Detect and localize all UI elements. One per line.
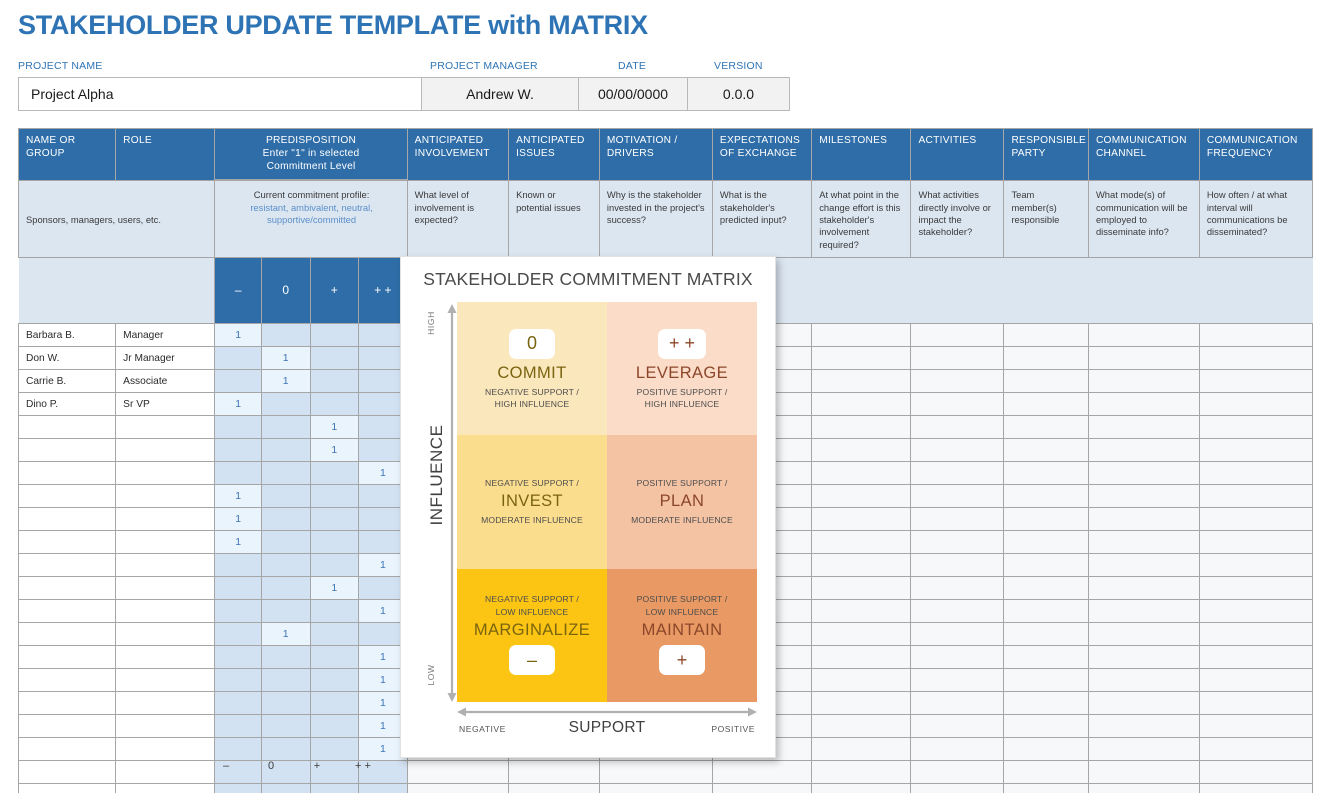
- cell-communication-frequency[interactable]: [1199, 669, 1312, 692]
- cell-communication-channel[interactable]: [1088, 600, 1199, 623]
- cell-anticipated-involvement[interactable]: [407, 784, 508, 793]
- cell-communication-frequency[interactable]: [1199, 715, 1312, 738]
- cell-communication-frequency[interactable]: [1199, 738, 1312, 761]
- cell-level-minus[interactable]: [215, 738, 261, 761]
- cell-level-zero[interactable]: [261, 439, 310, 462]
- desc-line-1: NEGATIVE SUPPORT /: [485, 477, 579, 489]
- level-row-pad-1: [19, 258, 116, 324]
- cell-level-zero[interactable]: [261, 784, 310, 793]
- cell-level-minus[interactable]: 1: [215, 485, 261, 508]
- cell-communication-frequency[interactable]: [1199, 508, 1312, 531]
- cell-activities[interactable]: [911, 577, 1004, 600]
- matrix-quadrant-desc-marginalize: NEGATIVE SUPPORT /LOW INFLUENCE: [485, 593, 579, 618]
- matrix-quadrant-title-commit: COMMIT: [497, 364, 566, 383]
- cell-role[interactable]: Manager: [116, 324, 215, 347]
- cell-responsible-party[interactable]: [1004, 462, 1089, 485]
- cell-role[interactable]: [116, 600, 215, 623]
- th-predisposition-l2: Enter "1" in selected: [219, 148, 402, 161]
- matrix-quadrant-commit[interactable]: 0COMMITNEGATIVE SUPPORT /HIGH INFLUENCE: [457, 302, 607, 435]
- desc-line-1: POSITIVE SUPPORT /: [637, 386, 728, 398]
- cell-responsible-party[interactable]: [1004, 715, 1089, 738]
- sub-predisposition-l2: resistant, ambivalent, neutral,: [222, 202, 400, 214]
- matrix-chip-leverage: + +: [658, 329, 706, 359]
- cell-activities[interactable]: [911, 715, 1004, 738]
- cell-activities[interactable]: [911, 462, 1004, 485]
- cell-level-plus[interactable]: [310, 600, 359, 623]
- sub-predisposition: Current commitment profile: resistant, a…: [215, 181, 407, 258]
- cell-milestones[interactable]: [812, 554, 911, 577]
- cell-level-plus[interactable]: 1: [310, 577, 359, 600]
- sub-communication-frequency: How often / at what interval will commun…: [1199, 181, 1312, 258]
- cell-communication-channel[interactable]: [1088, 508, 1199, 531]
- cell-activities[interactable]: [911, 646, 1004, 669]
- cell-communication-channel[interactable]: [1088, 692, 1199, 715]
- cell-responsible-party[interactable]: [1004, 738, 1089, 761]
- th-predisposition: PREDISPOSITION Enter "1" in selected Com…: [215, 129, 407, 180]
- influence-high-label: HIGH: [426, 303, 436, 343]
- cell-communication-frequency[interactable]: [1199, 600, 1312, 623]
- cell-name-or-group[interactable]: Don W.: [19, 347, 116, 370]
- cell-level-zero[interactable]: [261, 715, 310, 738]
- cell-level-minus[interactable]: 1: [215, 531, 261, 554]
- cell-responsible-party[interactable]: [1004, 439, 1089, 462]
- th-communication-channel: COMMUNICATION CHANNEL: [1088, 129, 1199, 181]
- cell-name-or-group[interactable]: Barbara B.: [19, 324, 116, 347]
- matrix-title: STAKEHOLDER COMMITMENT MATRIX: [401, 269, 775, 290]
- cell-responsible-party[interactable]: [1004, 485, 1089, 508]
- cell-milestones[interactable]: [812, 508, 911, 531]
- cell-level-zero[interactable]: [261, 692, 310, 715]
- th-anticipated-issues: ANTICIPATED ISSUES: [509, 129, 600, 181]
- cell-level-plus[interactable]: [310, 347, 359, 370]
- cell-level-plus[interactable]: [310, 324, 359, 347]
- cell-communication-channel[interactable]: [1088, 462, 1199, 485]
- cell-communication-frequency[interactable]: [1199, 462, 1312, 485]
- th-expectations-of-exchange: EXPECTATIONS OF EXCHANGE: [712, 129, 811, 181]
- stakeholder-commitment-matrix-card[interactable]: STAKEHOLDER COMMITMENT MATRIX HIGH LOW I…: [400, 256, 776, 758]
- cell-role[interactable]: [116, 531, 215, 554]
- date-field[interactable]: 00/00/0000: [579, 78, 688, 110]
- cell-level-minus[interactable]: [215, 669, 261, 692]
- cell-name-or-group[interactable]: [19, 485, 116, 508]
- cell-activities[interactable]: [911, 439, 1004, 462]
- cell-activities[interactable]: [911, 416, 1004, 439]
- support-axis: NEGATIVE SUPPORT POSITIVE: [457, 706, 757, 752]
- matrix-quadrant-desc-commit: NEGATIVE SUPPORT /HIGH INFLUENCE: [485, 386, 579, 411]
- cell-role[interactable]: Jr Manager: [116, 347, 215, 370]
- matrix-quadrant-leverage[interactable]: + +LEVERAGEPOSITIVE SUPPORT /HIGH INFLUE…: [607, 302, 757, 435]
- cell-activities[interactable]: [911, 669, 1004, 692]
- desc-line-2: MODERATE INFLUENCE: [631, 514, 733, 526]
- cell-level-plus[interactable]: [310, 485, 359, 508]
- cell-level-zero[interactable]: [261, 600, 310, 623]
- cell-activities[interactable]: [911, 738, 1004, 761]
- cell-milestones[interactable]: [812, 485, 911, 508]
- sub-milestones: At what point in the change effort is th…: [812, 181, 911, 258]
- cell-level-plus[interactable]: [310, 738, 359, 761]
- matrix-quadrant-marginalize[interactable]: NEGATIVE SUPPORT /LOW INFLUENCEMARGINALI…: [457, 569, 607, 702]
- sub-anticipated-involvement: What level of involvement is expected?: [407, 181, 508, 258]
- cell-role[interactable]: Associate: [116, 370, 215, 393]
- cell-level-zero[interactable]: [261, 393, 310, 416]
- cell-communication-channel[interactable]: [1088, 370, 1199, 393]
- cell-responsible-party[interactable]: [1004, 600, 1089, 623]
- cell-level-zero[interactable]: 1: [261, 623, 310, 646]
- level-row-pad-2: [116, 258, 215, 324]
- table-row: [19, 784, 1313, 793]
- cell-name-or-group[interactable]: [19, 508, 116, 531]
- cell-communication-channel[interactable]: [1088, 577, 1199, 600]
- matrix-quadrant-desc-plan: MODERATE INFLUENCE: [631, 514, 733, 526]
- cell-level-plus[interactable]: [310, 692, 359, 715]
- cell-level-zero[interactable]: [261, 669, 310, 692]
- matrix-quadrants: 0COMMITNEGATIVE SUPPORT /HIGH INFLUENCE+…: [457, 302, 757, 702]
- cell-milestones[interactable]: [812, 393, 911, 416]
- desc-line-2: HIGH INFLUENCE: [485, 398, 579, 410]
- cell-milestones[interactable]: [812, 462, 911, 485]
- sub-anticipated-issues: Known or potential issues: [509, 181, 600, 258]
- th-anticipated-involvement: ANTICIPATED INVOLVEMENT: [407, 129, 508, 181]
- cell-communication-frequency[interactable]: [1199, 416, 1312, 439]
- cell-name-or-group[interactable]: [19, 600, 116, 623]
- sub-responsible-party: Team member(s) responsible: [1004, 181, 1089, 258]
- matrix-quadrant-title-maintain: MAINTAIN: [642, 621, 723, 640]
- cell-role[interactable]: [116, 577, 215, 600]
- sub-communication-channel: What mode(s) of communication will be em…: [1088, 181, 1199, 258]
- version-field[interactable]: 0.0.0: [688, 78, 789, 110]
- cell-role[interactable]: [116, 462, 215, 485]
- matrix-quadrant-maintain[interactable]: POSITIVE SUPPORT /LOW INFLUENCEMAINTAIN+: [607, 569, 757, 702]
- cell-role[interactable]: [116, 715, 215, 738]
- cell-milestones[interactable]: [812, 370, 911, 393]
- cell-communication-frequency[interactable]: [1199, 393, 1312, 416]
- cell-role[interactable]: [116, 738, 215, 761]
- cell-name-or-group[interactable]: Dino P.: [19, 393, 116, 416]
- cell-level-plus[interactable]: 1: [310, 416, 359, 439]
- project-name-field[interactable]: Project Alpha: [19, 78, 422, 110]
- cell-communication-frequency[interactable]: [1199, 370, 1312, 393]
- cell-level-plusplus[interactable]: [359, 784, 408, 793]
- cell-level-plus[interactable]: [310, 531, 359, 554]
- cell-name-or-group[interactable]: [19, 715, 116, 738]
- cell-level-zero[interactable]: [261, 577, 310, 600]
- cell-name-or-group[interactable]: Carrie B.: [19, 370, 116, 393]
- cell-name-or-group[interactable]: [19, 623, 116, 646]
- sub-expectations-of-exchange: What is the stakeholder's predicted inpu…: [712, 181, 811, 258]
- cell-responsible-party[interactable]: [1004, 347, 1089, 370]
- matrix-chip-maintain: +: [659, 645, 705, 675]
- cell-communication-frequency[interactable]: [1199, 623, 1312, 646]
- cell-activities[interactable]: [911, 347, 1004, 370]
- cell-expectations-of-exchange[interactable]: [712, 784, 811, 793]
- cell-level-zero[interactable]: [261, 508, 310, 531]
- matrix-quadrant-desc-maintain: POSITIVE SUPPORT /LOW INFLUENCE: [637, 593, 728, 618]
- cell-role[interactable]: [116, 508, 215, 531]
- cell-level-zero[interactable]: 1: [261, 347, 310, 370]
- cell-name-or-group[interactable]: [19, 692, 116, 715]
- cell-communication-channel[interactable]: [1088, 439, 1199, 462]
- cell-name-or-group[interactable]: [19, 577, 116, 600]
- legend-plus: +: [294, 760, 340, 772]
- cell-name-or-group[interactable]: [19, 416, 116, 439]
- cell-role[interactable]: [116, 485, 215, 508]
- cell-role[interactable]: [116, 416, 215, 439]
- cell-name-or-group[interactable]: [19, 646, 116, 669]
- cell-level-zero[interactable]: [261, 462, 310, 485]
- cell-communication-channel[interactable]: [1088, 393, 1199, 416]
- cell-level-plus[interactable]: [310, 370, 359, 393]
- matrix-chip-commit: 0: [509, 329, 555, 359]
- cell-responsible-party[interactable]: [1004, 554, 1089, 577]
- cell-communication-channel[interactable]: [1088, 623, 1199, 646]
- matrix-quadrant-plan[interactable]: POSITIVE SUPPORT /PLANMODERATE INFLUENCE: [607, 435, 757, 568]
- cell-level-plus[interactable]: [310, 669, 359, 692]
- cell-role[interactable]: [116, 692, 215, 715]
- desc-line-2: LOW INFLUENCE: [485, 606, 579, 618]
- cell-role[interactable]: [116, 623, 215, 646]
- cell-activities[interactable]: [911, 370, 1004, 393]
- table-header-row: NAME OR GROUP ROLE PREDISPOSITION Enter …: [19, 129, 1313, 180]
- cell-responsible-party[interactable]: [1004, 784, 1089, 793]
- legend-zero: 0: [248, 760, 294, 772]
- cell-level-minus[interactable]: [215, 784, 261, 793]
- cell-anticipated-issues[interactable]: [509, 784, 600, 793]
- cell-level-minus[interactable]: [215, 370, 261, 393]
- cell-milestones[interactable]: [812, 692, 911, 715]
- cell-level-zero[interactable]: [261, 416, 310, 439]
- cell-activities[interactable]: [911, 600, 1004, 623]
- support-positive-label: POSITIVE: [711, 724, 755, 734]
- cell-name-or-group[interactable]: [19, 439, 116, 462]
- matrix-quadrant-title-plan: PLAN: [660, 492, 705, 511]
- th-motivation-drivers: MOTIVATION / DRIVERS: [599, 129, 712, 181]
- matrix-quadrant-desc-invest: MODERATE INFLUENCE: [481, 514, 583, 526]
- cell-responsible-party[interactable]: [1004, 416, 1089, 439]
- cell-level-zero[interactable]: 1: [261, 370, 310, 393]
- cell-level-minus[interactable]: [215, 347, 261, 370]
- matrix-quadrant-title-marginalize: MARGINALIZE: [474, 621, 590, 640]
- sub-motivation-drivers: Why is the stakeholder invested in the p…: [599, 181, 712, 258]
- cell-level-minus[interactable]: [215, 439, 261, 462]
- cell-level-plus[interactable]: [310, 715, 359, 738]
- cell-level-zero[interactable]: [261, 738, 310, 761]
- influence-low-label: LOW: [426, 655, 436, 695]
- th-predisposition-l1: PREDISPOSITION: [219, 135, 402, 148]
- cell-level-zero[interactable]: [261, 554, 310, 577]
- commitment-legend: – 0 + + +: [18, 760, 1313, 780]
- cell-communication-frequency[interactable]: [1199, 554, 1312, 577]
- cell-responsible-party[interactable]: [1004, 646, 1089, 669]
- cell-level-minus[interactable]: 1: [215, 508, 261, 531]
- cell-level-minus[interactable]: 1: [215, 324, 261, 347]
- cell-communication-frequency[interactable]: [1199, 646, 1312, 669]
- cell-activities[interactable]: [911, 623, 1004, 646]
- cell-level-zero[interactable]: [261, 531, 310, 554]
- cell-name-or-group[interactable]: [19, 531, 116, 554]
- cell-level-minus[interactable]: [215, 715, 261, 738]
- cell-responsible-party[interactable]: [1004, 508, 1089, 531]
- cell-communication-channel[interactable]: [1088, 784, 1199, 793]
- cell-level-minus[interactable]: [215, 646, 261, 669]
- cell-level-minus[interactable]: 1: [215, 393, 261, 416]
- project-info-row: Project Alpha Andrew W. 00/00/0000 0.0.0: [18, 77, 790, 111]
- cell-level-zero[interactable]: [261, 324, 310, 347]
- table-subheader-row: Sponsors, managers, users, etc. Current …: [19, 181, 1313, 258]
- label-version: VERSION: [714, 60, 763, 72]
- desc-line-1: NEGATIVE SUPPORT /: [485, 593, 579, 605]
- cell-name-or-group[interactable]: [19, 738, 116, 761]
- th-name-or-group: NAME OR GROUP: [19, 129, 116, 181]
- cell-communication-frequency[interactable]: [1199, 531, 1312, 554]
- cell-role[interactable]: [116, 554, 215, 577]
- cell-level-plus[interactable]: [310, 393, 359, 416]
- cell-activities[interactable]: [911, 508, 1004, 531]
- th-responsible-party: RESPONSIBLE PARTY: [1004, 129, 1089, 181]
- cell-level-zero[interactable]: [261, 485, 310, 508]
- cell-communication-frequency[interactable]: [1199, 439, 1312, 462]
- cell-communication-frequency[interactable]: [1199, 577, 1312, 600]
- cell-responsible-party[interactable]: [1004, 692, 1089, 715]
- cell-role[interactable]: [116, 439, 215, 462]
- cell-level-minus[interactable]: [215, 416, 261, 439]
- cell-activities[interactable]: [911, 692, 1004, 715]
- label-project-manager: PROJECT MANAGER: [430, 60, 538, 72]
- page-title: STAKEHOLDER UPDATE TEMPLATE with MATRIX: [18, 10, 648, 41]
- cell-level-plus[interactable]: [310, 554, 359, 577]
- sub-name-or-group: Sponsors, managers, users, etc.: [19, 181, 215, 258]
- sub-predisposition-l3: supportive/committed: [222, 214, 400, 226]
- influence-axis: HIGH LOW INFLUENCE: [419, 302, 457, 702]
- cell-level-minus[interactable]: [215, 577, 261, 600]
- cell-milestones[interactable]: [812, 600, 911, 623]
- cell-milestones[interactable]: [812, 347, 911, 370]
- cell-communication-channel[interactable]: [1088, 347, 1199, 370]
- cell-milestones[interactable]: [812, 784, 911, 793]
- cell-level-plus[interactable]: [310, 623, 359, 646]
- cell-milestones[interactable]: [812, 646, 911, 669]
- matrix-quadrant-desc-plan: POSITIVE SUPPORT /: [637, 477, 728, 489]
- cell-activities[interactable]: [911, 554, 1004, 577]
- level-header-plus[interactable]: +: [310, 258, 359, 324]
- cell-communication-channel[interactable]: [1088, 531, 1199, 554]
- th-milestones: MILESTONES: [812, 129, 911, 181]
- cell-responsible-party[interactable]: [1004, 531, 1089, 554]
- cell-level-minus[interactable]: [215, 692, 261, 715]
- cell-communication-channel[interactable]: [1088, 324, 1199, 347]
- cell-communication-channel[interactable]: [1088, 669, 1199, 692]
- cell-communication-frequency[interactable]: [1199, 784, 1312, 793]
- cell-role[interactable]: Sr VP: [116, 393, 215, 416]
- th-role: ROLE: [116, 129, 215, 181]
- cell-milestones[interactable]: [812, 715, 911, 738]
- matrix-quadrant-invest[interactable]: NEGATIVE SUPPORT /INVESTMODERATE INFLUEN…: [457, 435, 607, 568]
- cell-level-minus[interactable]: [215, 623, 261, 646]
- cell-level-plus[interactable]: [310, 784, 359, 793]
- cell-responsible-party[interactable]: [1004, 324, 1089, 347]
- cell-responsible-party[interactable]: [1004, 577, 1089, 600]
- desc-line-2: LOW INFLUENCE: [637, 606, 728, 618]
- cell-milestones[interactable]: [812, 416, 911, 439]
- cell-level-minus[interactable]: [215, 462, 261, 485]
- matrix-quadrant-desc-leverage: POSITIVE SUPPORT /HIGH INFLUENCE: [637, 386, 728, 411]
- influence-axis-label: INFLUENCE: [427, 415, 447, 535]
- th-activities: ACTIVITIES: [911, 129, 1004, 181]
- cell-milestones[interactable]: [812, 577, 911, 600]
- desc-line-1: POSITIVE SUPPORT /: [637, 477, 728, 489]
- cell-milestones[interactable]: [812, 738, 911, 761]
- cell-communication-channel[interactable]: [1088, 715, 1199, 738]
- desc-line-1: POSITIVE SUPPORT /: [637, 593, 728, 605]
- cell-responsible-party[interactable]: [1004, 669, 1089, 692]
- cell-milestones[interactable]: [812, 531, 911, 554]
- cell-communication-frequency[interactable]: [1199, 485, 1312, 508]
- cell-name-or-group[interactable]: [19, 462, 116, 485]
- cell-communication-channel[interactable]: [1088, 646, 1199, 669]
- cell-communication-channel[interactable]: [1088, 738, 1199, 761]
- level-header-minus[interactable]: –: [215, 258, 261, 324]
- cell-level-zero[interactable]: [261, 646, 310, 669]
- matrix-quadrant-title-invest: INVEST: [501, 492, 563, 511]
- cell-activities[interactable]: [911, 485, 1004, 508]
- cell-responsible-party[interactable]: [1004, 370, 1089, 393]
- legend-plusplus: + +: [340, 760, 386, 772]
- cell-activities[interactable]: [911, 393, 1004, 416]
- desc-line-1: NEGATIVE SUPPORT /: [485, 386, 579, 398]
- cell-communication-frequency[interactable]: [1199, 347, 1312, 370]
- matrix-quadrant-desc-invest: NEGATIVE SUPPORT /: [485, 477, 579, 489]
- cell-activities[interactable]: [911, 324, 1004, 347]
- cell-communication-frequency[interactable]: [1199, 324, 1312, 347]
- cell-level-plus[interactable]: [310, 508, 359, 531]
- level-header-zero[interactable]: 0: [261, 258, 310, 324]
- cell-responsible-party[interactable]: [1004, 623, 1089, 646]
- label-project-name: PROJECT NAME: [18, 60, 102, 72]
- label-date: DATE: [618, 60, 646, 72]
- cell-level-minus[interactable]: [215, 600, 261, 623]
- cell-milestones[interactable]: [812, 669, 911, 692]
- cell-milestones[interactable]: [812, 623, 911, 646]
- th-predisposition-l3: Commitment Level: [219, 161, 402, 174]
- cell-name-or-group[interactable]: [19, 784, 116, 793]
- cell-name-or-group[interactable]: [19, 554, 116, 577]
- cell-communication-channel[interactable]: [1088, 554, 1199, 577]
- cell-activities[interactable]: [911, 531, 1004, 554]
- cell-communication-channel[interactable]: [1088, 416, 1199, 439]
- support-arrow-icon: [457, 706, 757, 718]
- cell-level-plus[interactable]: [310, 646, 359, 669]
- cell-role[interactable]: [116, 646, 215, 669]
- cell-level-plus[interactable]: 1: [310, 439, 359, 462]
- project-info-labels: PROJECT NAME PROJECT MANAGER DATE VERSIO…: [18, 60, 790, 74]
- cell-level-minus[interactable]: [215, 554, 261, 577]
- matrix-quadrant-title-leverage: LEVERAGE: [636, 364, 728, 383]
- cell-motivation-drivers[interactable]: [599, 784, 712, 793]
- cell-responsible-party[interactable]: [1004, 393, 1089, 416]
- stakeholder-update-page: STAKEHOLDER UPDATE TEMPLATE with MATRIX …: [0, 0, 1331, 793]
- desc-line-2: HIGH INFLUENCE: [637, 398, 728, 410]
- cell-milestones[interactable]: [812, 439, 911, 462]
- cell-communication-channel[interactable]: [1088, 485, 1199, 508]
- cell-activities[interactable]: [911, 784, 1004, 793]
- cell-level-plus[interactable]: [310, 462, 359, 485]
- cell-communication-frequency[interactable]: [1199, 692, 1312, 715]
- desc-line-2: MODERATE INFLUENCE: [481, 514, 583, 526]
- cell-name-or-group[interactable]: [19, 669, 116, 692]
- cell-role[interactable]: [116, 784, 215, 793]
- cell-milestones[interactable]: [812, 324, 911, 347]
- project-manager-field[interactable]: Andrew W.: [422, 78, 579, 110]
- cell-role[interactable]: [116, 669, 215, 692]
